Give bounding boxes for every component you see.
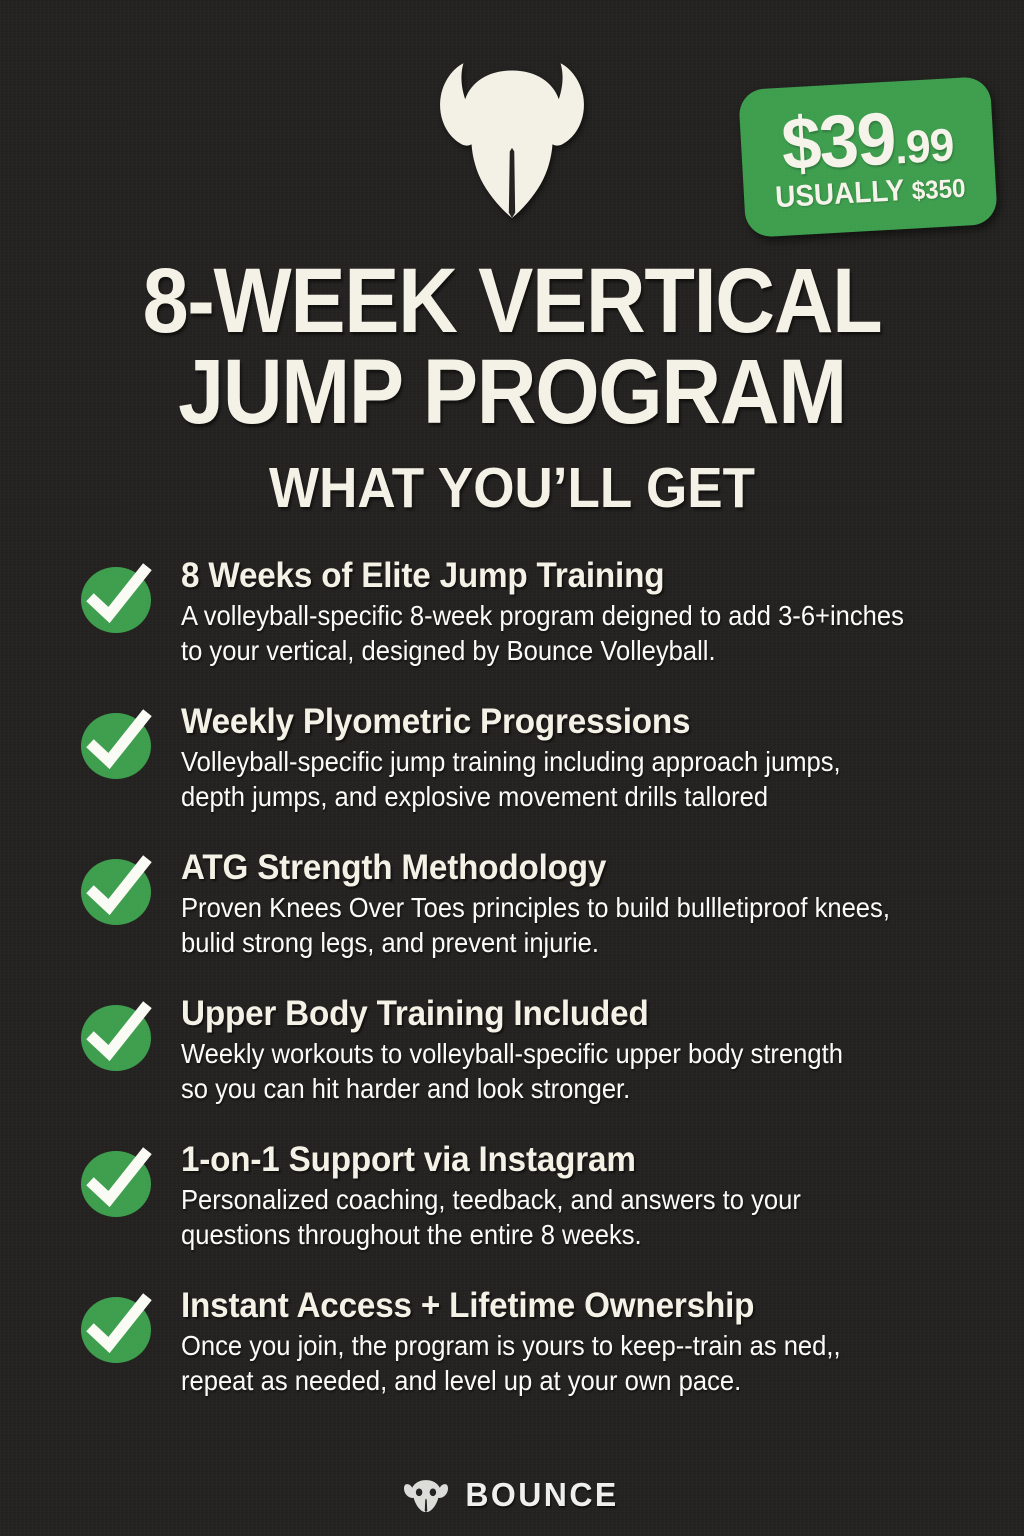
check-circle-icon [78, 851, 156, 929]
feature-title: Instant Access + Lifetime Ownership [181, 1287, 855, 1325]
price-dollars: $39 [780, 105, 896, 179]
poster-header: $39.99 USUALLY $350 [0, 0, 1024, 250]
page-title-line1: 8-WEEK VERTICAL [51, 256, 973, 347]
feature-title: 8 Weeks of Elite Jump Training [181, 557, 919, 595]
list-item: 1-on-1 Support via Instagram Personalize… [78, 1139, 998, 1285]
feature-title: ATG Strength Methodology [181, 849, 905, 887]
feature-description: Weekly workouts to volleyball-specific u… [181, 1036, 843, 1106]
feature-text: Instant Access + Lifetime Ownership Once… [181, 1285, 890, 1398]
check-circle-icon [78, 559, 156, 637]
check-circle-icon [78, 705, 156, 783]
feature-text: ATG Strength Methodology Proven Knees Ov… [181, 847, 943, 960]
check-circle-icon [78, 1289, 156, 1367]
usually-amount: $350 [911, 175, 966, 204]
feature-title: Upper Body Training Included [181, 995, 857, 1033]
footer-brand: BOUNCE [0, 1476, 1024, 1514]
brand-name: BOUNCE [465, 1476, 618, 1514]
feature-text: 1-on-1 Support via Instagram Personalize… [181, 1139, 848, 1252]
feature-description: Proven Knees Over Toes principles to bui… [181, 890, 890, 960]
bull-skull-icon [403, 1477, 449, 1513]
usually-label: USUALLY [774, 176, 905, 213]
feature-text: Upper Body Training Included Weekly work… [181, 993, 893, 1106]
feature-description: Volleyball-specific jump training includ… [181, 744, 841, 814]
list-item: Instant Access + Lifetime Ownership Once… [78, 1285, 998, 1431]
feature-list: 8 Weeks of Elite Jump Training A volleyb… [0, 555, 1024, 1431]
price-badge[interactable]: $39.99 USUALLY $350 [738, 76, 998, 238]
price-amount: $39.99 [780, 101, 955, 179]
feature-description: A volleyball-specific 8-week program dei… [181, 598, 904, 668]
page-subtitle: WHAT YOU’LL GET [36, 460, 988, 517]
check-circle-icon [78, 997, 156, 1075]
list-item: 8 Weeks of Elite Jump Training A volleyb… [78, 555, 998, 701]
feature-title: 1-on-1 Support via Instagram [181, 1141, 814, 1179]
list-item: ATG Strength Methodology Proven Knees Ov… [78, 847, 998, 993]
bull-skull-icon [422, 36, 602, 221]
list-item: Weekly Plyometric Progressions Volleybal… [78, 701, 998, 847]
feature-title: Weekly Plyometric Progressions [181, 703, 855, 741]
page-title-line2: JUMP PROGRAM [51, 347, 973, 438]
title-block: 8-WEEK VERTICAL JUMP PROGRAM WHAT YOU’LL… [0, 256, 1024, 517]
feature-description: Once you join, the program is yours to k… [181, 1328, 841, 1398]
feature-text: 8 Weeks of Elite Jump Training A volleyb… [181, 555, 958, 668]
list-item: Upper Body Training Included Weekly work… [78, 993, 998, 1139]
price-cents: .99 [893, 123, 954, 169]
price-original: USUALLY $350 [774, 173, 966, 214]
feature-text: Weekly Plyometric Progressions Volleybal… [181, 701, 890, 814]
check-circle-icon [78, 1143, 156, 1221]
feature-description: Personalized coaching, teedback, and ans… [181, 1182, 801, 1252]
